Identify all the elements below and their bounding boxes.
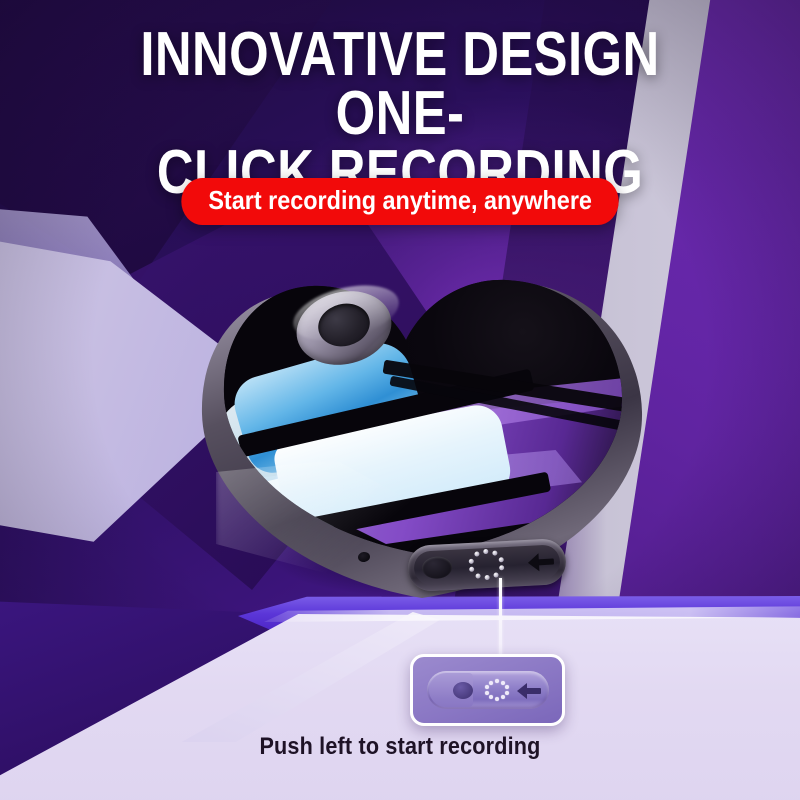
grille-dot xyxy=(493,551,498,556)
record-switch[interactable] xyxy=(407,538,567,592)
badge-row: Start recording anytime, anywhere xyxy=(0,178,800,225)
callout-microphone-grille-icon xyxy=(482,677,512,703)
arrow-left-icon xyxy=(527,553,554,572)
grille-dot xyxy=(501,695,505,699)
grille-dot xyxy=(489,681,493,685)
callout-switch-knob[interactable] xyxy=(453,682,473,699)
grille-dot xyxy=(489,695,493,699)
grille-dot xyxy=(505,685,509,689)
status-badge: Start recording anytime, anywhere xyxy=(181,178,619,225)
grille-dot xyxy=(469,567,474,572)
grille-dot xyxy=(494,572,499,577)
grille-dot xyxy=(501,681,505,685)
product-image xyxy=(196,246,648,616)
grille-dot xyxy=(495,697,499,701)
grille-dot xyxy=(499,565,504,570)
callout-switch[interactable] xyxy=(427,671,549,709)
callout-connector-line xyxy=(499,578,502,656)
page-title: INNOVATIVE DESIGN ONE- CLICK RECORDING xyxy=(121,26,679,203)
callout-arrow-left-icon xyxy=(517,683,541,699)
grille-dot xyxy=(495,679,499,683)
product-banner: INNOVATIVE DESIGN ONE- CLICK RECORDING S… xyxy=(0,0,800,800)
grille-dot xyxy=(485,575,490,580)
callout-box xyxy=(410,654,565,726)
grille-dot xyxy=(474,552,479,557)
callout-caption: Push left to start recording xyxy=(40,733,760,761)
headline-line-1: INNOVATIVE DESIGN ONE- xyxy=(140,20,659,148)
microphone-grille-icon xyxy=(463,546,511,584)
grille-dot xyxy=(505,691,509,695)
grille-dot xyxy=(485,685,489,689)
grille-dot xyxy=(475,573,480,578)
grille-dot xyxy=(483,549,488,554)
grille-dot xyxy=(499,557,504,562)
grille-dot xyxy=(468,559,473,564)
grille-dot xyxy=(485,691,489,695)
